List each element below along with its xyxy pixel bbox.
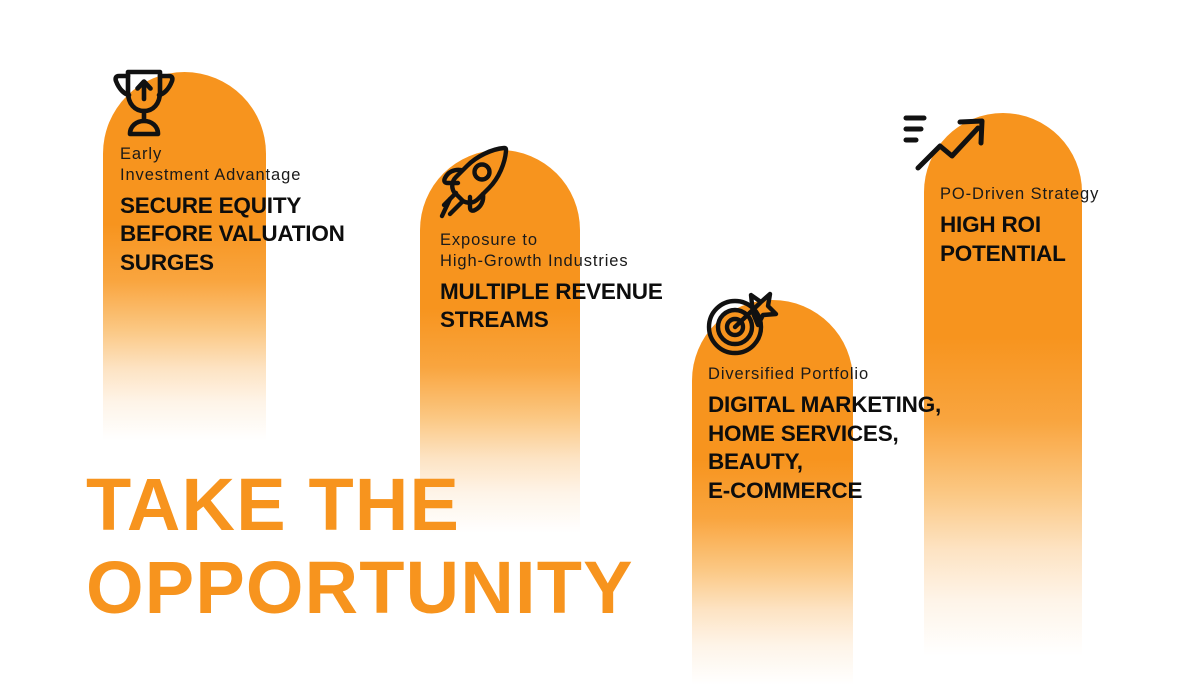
- main-title: TAKE THE OPPORTUNITY: [86, 464, 634, 630]
- target-dart-icon: [704, 288, 1000, 358]
- card-eyebrow: Diversified Portfolio: [708, 364, 1000, 385]
- card-headline: DIGITAL MARKETING, HOME SERVICES, BEAUTY…: [708, 391, 1000, 505]
- card-headline: MULTIPLE REVENUE STREAMS: [440, 278, 728, 335]
- benefit-card-3: Diversified Portfolio DIGITAL MARKETING,…: [700, 288, 1000, 505]
- card-eyebrow: PO-Driven Strategy: [940, 184, 1185, 205]
- card-eyebrow: Exposure to High-Growth Industries: [440, 230, 728, 272]
- growth-arrow-icon: [902, 108, 1185, 178]
- slide-canvas: Early Investment Advantage SECURE EQUITY…: [0, 0, 1185, 697]
- trophy-icon: [108, 64, 408, 138]
- rocket-icon: [436, 142, 728, 224]
- benefit-card-2: Exposure to High-Growth Industries MULTI…: [428, 142, 728, 335]
- card-headline: HIGH ROI POTENTIAL: [940, 211, 1185, 268]
- benefit-card-1: Early Investment Advantage SECURE EQUITY…: [108, 64, 408, 278]
- card-eyebrow: Early Investment Advantage: [120, 144, 408, 186]
- benefit-card-4: PO-Driven Strategy HIGH ROI POTENTIAL: [898, 108, 1185, 268]
- card-headline: SECURE EQUITY BEFORE VALUATION SURGES: [120, 192, 408, 278]
